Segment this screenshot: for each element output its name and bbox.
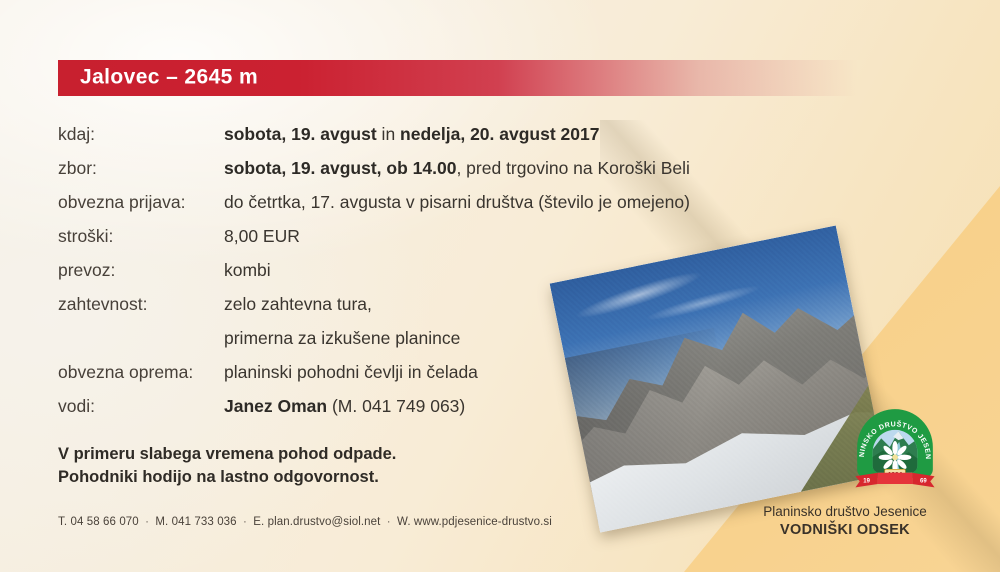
- detail-value-text: , pred trgovino na Koroški Beli: [456, 158, 689, 178]
- organization-name: Planinsko društvo Jesenice: [700, 503, 990, 521]
- poster-canvas: Jalovec – 2645 m kdaj:sobota, 19. avgust…: [0, 0, 1000, 572]
- email-address[interactable]: plan.drustvo@siol.net: [268, 516, 381, 528]
- logo-ribbon-right-text: 69: [920, 478, 927, 484]
- detail-value-emphasis: sobota, 19. avgust: [224, 124, 377, 144]
- logo-ribbon-center: [878, 473, 912, 484]
- detail-value-text: zelo zahtevna tura,: [224, 294, 372, 314]
- detail-value-text: do četrtka, 17. avgusta v pisarni društv…: [224, 192, 690, 212]
- page-title: Jalovec – 2645 m: [80, 66, 258, 90]
- detail-value: sobota, 19. avgust in nedelja, 20. avgus…: [224, 126, 599, 144]
- detail-row: obvezna prijava:do četrtka, 17. avgusta …: [58, 194, 758, 228]
- separator-icon: ·: [240, 516, 250, 528]
- notice-line-2: Pohodniki hodijo na lastno odgovornost.: [58, 466, 396, 489]
- notice-line-1: V primeru slabega vremena pohod odpade.: [58, 443, 396, 466]
- detail-label: vodi:: [58, 398, 224, 416]
- organization-block: Planinsko društvo Jesenice VODNIŠKI ODSE…: [700, 503, 990, 541]
- detail-row: zbor:sobota, 19. avgust, ob 14.00, pred …: [58, 160, 758, 194]
- email-prefix: E.: [253, 516, 264, 528]
- separator-icon: ·: [142, 516, 152, 528]
- club-logo-icon: PLANINSKO DRUŠTVO JESENICE 1924: [852, 404, 938, 490]
- detail-value: kombi: [224, 262, 271, 280]
- detail-value-emphasis: sobota, 19. avgust, ob 14.00: [224, 158, 456, 178]
- detail-value: primerna za izkušene planince: [224, 330, 460, 348]
- contact-footer: T. 04 58 66 070 · M. 041 733 036 · E. pl…: [58, 516, 552, 528]
- detail-value-text: primerna za izkušene planince: [224, 328, 460, 348]
- weather-notice: V primeru slabega vremena pohod odpade. …: [58, 443, 396, 490]
- mobile-prefix: M.: [155, 516, 168, 528]
- website-url[interactable]: www.pdjesenice-drustvo.si: [414, 516, 552, 528]
- phone-number: 04 58 66 070: [70, 516, 138, 528]
- detail-value: sobota, 19. avgust, ob 14.00, pred trgov…: [224, 160, 690, 178]
- detail-label: zahtevnost:: [58, 296, 224, 314]
- detail-value-text: 8,00 EUR: [224, 226, 300, 246]
- detail-value: zelo zahtevna tura,: [224, 296, 372, 314]
- web-prefix: W.: [397, 516, 411, 528]
- detail-value-emphasis: nedelja, 20. avgust 2017: [400, 124, 599, 144]
- detail-row: stroški:8,00 EUR: [58, 228, 758, 262]
- detail-label: obvezna prijava:: [58, 194, 224, 212]
- detail-value-text: in: [377, 124, 400, 144]
- mobile-number: 041 733 036: [172, 516, 237, 528]
- detail-value: planinski pohodni čevlji in čelada: [224, 364, 478, 382]
- organization-department: VODNIŠKI ODSEK: [700, 521, 990, 541]
- detail-value-emphasis: Janez Oman: [224, 396, 327, 416]
- detail-value: Janez Oman (M. 041 749 063): [224, 398, 465, 416]
- detail-label: zbor:: [58, 160, 224, 178]
- logo-ribbon-left-text: 19: [863, 478, 870, 484]
- title-bar: Jalovec – 2645 m: [58, 60, 858, 96]
- detail-label: prevoz:: [58, 262, 224, 280]
- club-logo: PLANINSKO DRUŠTVO JESENICE 1924: [852, 404, 938, 490]
- detail-value: do četrtka, 17. avgusta v pisarni društv…: [224, 194, 690, 212]
- detail-value-text: planinski pohodni čevlji in čelada: [224, 362, 478, 382]
- detail-label: stroški:: [58, 228, 224, 246]
- detail-label: obvezna oprema:: [58, 364, 224, 382]
- separator-icon: ·: [384, 516, 394, 528]
- detail-value-text: kombi: [224, 260, 271, 280]
- phone-prefix: T.: [58, 516, 67, 528]
- detail-label: kdaj:: [58, 126, 224, 144]
- detail-row: kdaj:sobota, 19. avgust in nedelja, 20. …: [58, 126, 758, 160]
- detail-value-text: (M. 041 749 063): [327, 396, 465, 416]
- detail-value: 8,00 EUR: [224, 228, 300, 246]
